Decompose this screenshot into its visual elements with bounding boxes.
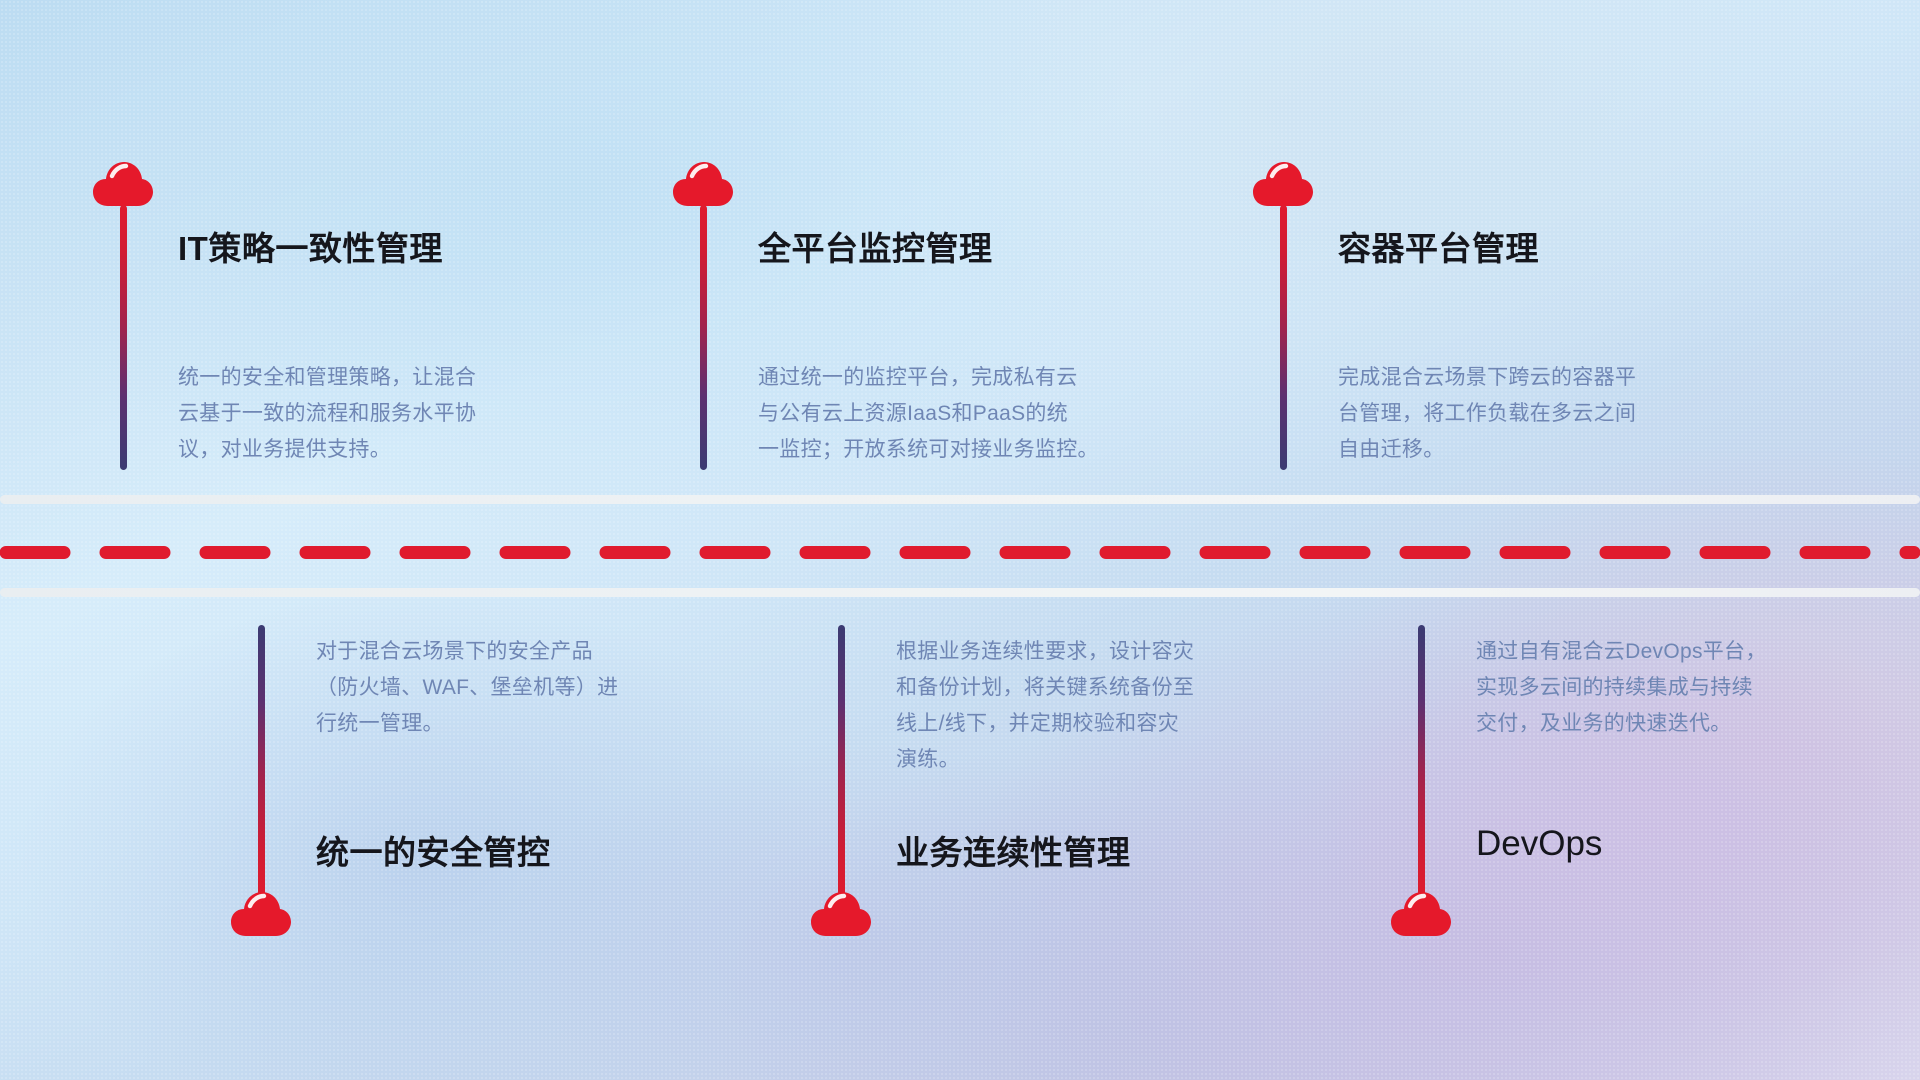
divider-rail-bottom <box>0 588 1920 597</box>
card-title: 业务连续性管理 <box>896 826 1131 874</box>
card-title: DevOps <box>1476 824 1602 864</box>
cloud-icon <box>810 890 872 938</box>
card-title: 全平台监控管理 <box>758 222 993 270</box>
card-title: IT策略一致性管理 <box>178 222 443 270</box>
card-body: 通过自有混合云DevOps平台， 实现多云间的持续集成与持续 交付，及业务的快速… <box>1476 634 1767 742</box>
infographic-canvas: IT策略一致性管理 统一的安全和管理策略，让混合 云基于一致的流程和服务水平协 … <box>0 0 1920 1080</box>
card-stem <box>120 205 127 470</box>
cloud-icon <box>1390 890 1452 938</box>
card-stem <box>258 625 265 900</box>
card-stem <box>1418 625 1425 900</box>
card-body: 根据业务连续性要求，设计容灾 和备份计划，将关键系统备份至 线上/线下，并定期校… <box>896 634 1194 778</box>
divider-rail-top <box>0 495 1920 504</box>
card-title: 容器平台管理 <box>1338 222 1539 270</box>
card-body: 统一的安全和管理策略，让混合 云基于一致的流程和服务水平协 议，对业务提供支持。 <box>178 360 476 468</box>
cloud-icon <box>230 890 292 938</box>
cloud-icon <box>1252 160 1314 208</box>
card-title: 统一的安全管控 <box>316 826 551 874</box>
card-stem <box>700 205 707 470</box>
divider-dashed-line <box>0 546 1920 559</box>
card-stem <box>838 625 845 900</box>
card-body: 通过统一的监控平台，完成私有云 与公有云上资源IaaS和PaaS的统 一监控；开… <box>758 360 1099 468</box>
card-body: 对于混合云场景下的安全产品 （防火墙、WAF、堡垒机等）进 行统一管理。 <box>316 634 618 742</box>
card-stem <box>1280 205 1287 470</box>
card-body: 完成混合云场景下跨云的容器平 台管理，将工作负载在多云之间 自由迁移。 <box>1338 360 1636 468</box>
cloud-icon <box>92 160 154 208</box>
cloud-icon <box>672 160 734 208</box>
